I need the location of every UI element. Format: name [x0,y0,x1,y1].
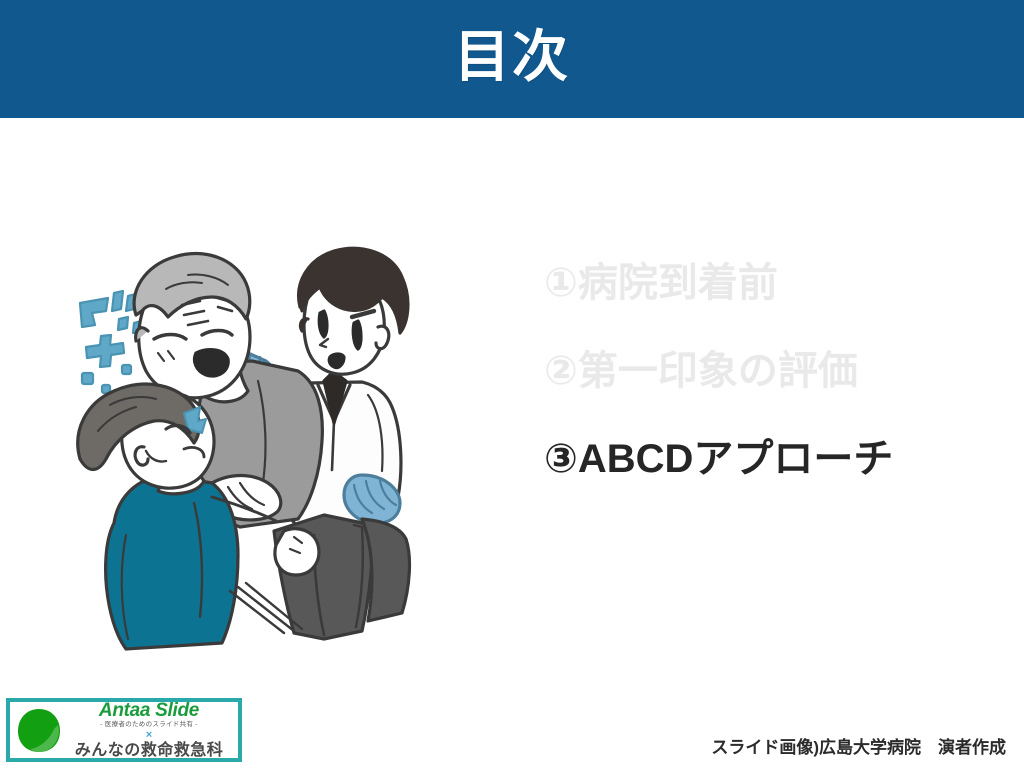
antaa-cross-icon: × [64,730,234,741]
slide-header: 目次 [0,0,1024,118]
antaa-tagline: - 医療者のためのスライド共有 - [64,722,234,729]
agenda-item-3[interactable]: ③ABCDアプローチ [544,438,964,480]
antaa-leaf-icon [14,705,64,755]
page-title: 目次 [454,29,570,85]
antaa-subtitle: みんなの救命救急科 [64,743,234,759]
illustration-patient-supported-by-medical-staff [62,235,462,660]
agenda-list: ①病院到着前 ②第一印象の評価 ③ABCDアプローチ [544,262,964,480]
agenda-item-1[interactable]: ①病院到着前 [544,262,964,304]
image-credit: スライド画像)広島大学病院 演者作成 [711,733,1006,758]
antaa-brand-name: Antaa Slide [64,701,234,720]
antaa-logo-text: Antaa Slide - 医療者のためのスライド共有 - × みんなの救命救急… [64,701,238,760]
agenda-item-2[interactable]: ②第一印象の評価 [544,350,964,392]
antaa-slide-logo: Antaa Slide - 医療者のためのスライド共有 - × みんなの救命救急… [6,698,242,762]
